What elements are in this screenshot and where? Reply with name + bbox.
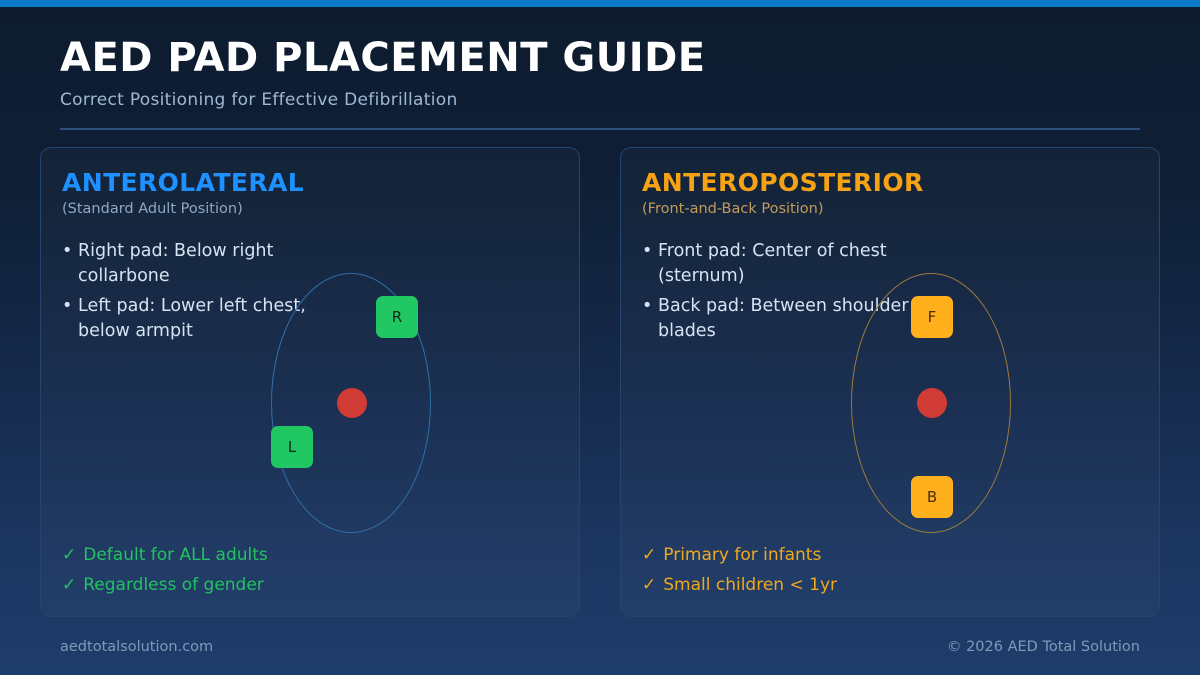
pad-back[interactable]: B [911,476,953,518]
note-row: ✓Primary for infants [642,540,1072,570]
pad-label: F [928,310,937,325]
pad-left[interactable]: L [271,426,313,468]
note-text: Regardless of gender [83,575,264,595]
footer-copyright: © 2026 AED Total Solution [947,639,1140,655]
panel-title-anteroposterior: ANTEROPOSTERIOR [642,168,924,198]
heart-marker-icon [337,388,367,418]
panel-anterolateral: ANTEROLATERAL (Standard Adult Position) … [40,147,580,617]
pad-label: B [927,490,937,505]
page-subtitle: Correct Positioning for Effective Defibr… [60,89,1140,111]
footer-website: aedtotalsolution.com [60,639,213,655]
top-accent-bar [0,0,1200,7]
heart-marker-icon [917,388,947,418]
panel-subtitle-anterolateral: (Standard Adult Position) [62,200,243,219]
panel-subtitle-anteroposterior: (Front-and-Back Position) [642,200,823,219]
note-text: Default for ALL adults [83,545,268,565]
note-text: Primary for infants [663,545,821,565]
notes-anterolateral: ✓Default for ALL adults ✓Regardless of g… [62,540,492,600]
check-icon: ✓ [642,545,656,565]
note-row: ✓Regardless of gender [62,570,492,600]
bullet-dot-icon: • [62,239,72,264]
panel-anteroposterior: ANTEROPOSTERIOR (Front-and-Back Position… [620,147,1160,617]
pad-front[interactable]: F [911,296,953,338]
panel-title-anterolateral: ANTEROLATERAL [62,168,304,198]
check-icon: ✓ [62,545,76,565]
pad-label: R [392,310,402,325]
header-divider [60,128,1140,130]
pad-right[interactable]: R [376,296,418,338]
note-row: ✓Default for ALL adults [62,540,492,570]
notes-anteroposterior: ✓Primary for infants ✓Small children < 1… [642,540,1072,600]
pad-label: L [288,440,296,455]
bullet-dot-icon: • [642,239,652,264]
note-row: ✓Small children < 1yr [642,570,1072,600]
check-icon: ✓ [62,575,76,595]
page-title: AED PAD PLACEMENT GUIDE [60,34,1140,82]
check-icon: ✓ [642,575,656,595]
page-header: AED PAD PLACEMENT GUIDE Correct Position… [60,34,1140,111]
bullet-dot-icon: • [642,294,652,319]
note-text: Small children < 1yr [663,575,837,595]
bullet-dot-icon: • [62,294,72,319]
